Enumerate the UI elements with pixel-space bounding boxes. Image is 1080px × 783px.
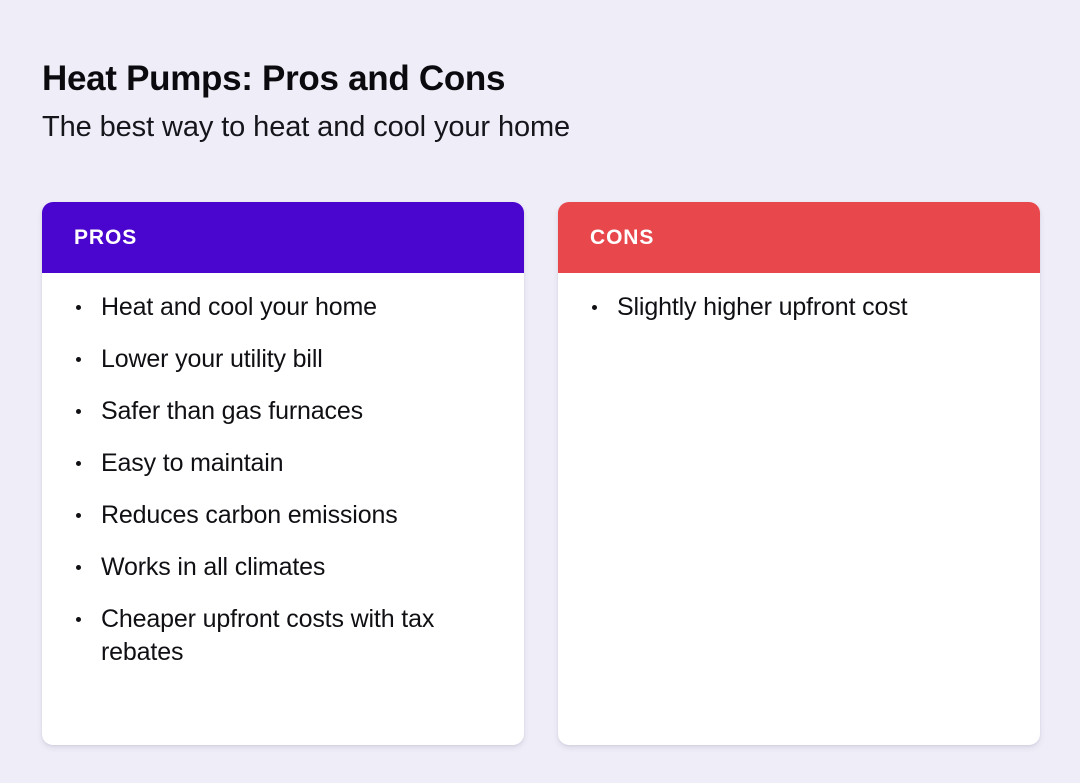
cons-list: Slightly higher upfront cost [584,291,1014,324]
page-subtitle: The best way to heat and cool your home [42,109,1042,145]
list-item: Reduces carbon emissions [68,499,498,532]
bullet-dot-icon [76,461,81,466]
cons-card-body: Slightly higher upfront cost [558,273,1040,745]
bullet-dot-icon [76,565,81,570]
list-item: Safer than gas furnaces [68,395,498,428]
page-title: Heat Pumps: Pros and Cons [42,58,1042,100]
cons-card-header-label: CONS [590,227,654,248]
bullet-dot-icon [76,305,81,310]
list-item-label: Heat and cool your home [101,291,498,324]
cons-card: CONS Slightly higher upfront cost [558,202,1040,745]
pros-list: Heat and cool your homeLower your utilit… [68,291,498,669]
pros-card: PROS Heat and cool your homeLower your u… [42,202,524,745]
bullet-dot-icon [592,305,597,310]
list-item-label: Easy to maintain [101,447,498,480]
bullet-dot-icon [76,513,81,518]
list-item-label: Slightly higher upfront cost [617,291,1014,324]
list-item: Slightly higher upfront cost [584,291,1014,324]
list-item-label: Lower your utility bill [101,343,498,376]
list-item-label: Reduces carbon emissions [101,499,498,532]
list-item: Works in all climates [68,551,498,584]
infographic-page: Heat Pumps: Pros and Cons The best way t… [0,0,1080,783]
bullet-dot-icon [76,409,81,414]
bullet-dot-icon [76,357,81,362]
cons-card-header: CONS [558,202,1040,273]
list-item-label: Works in all climates [101,551,498,584]
list-item: Cheaper upfront costs with tax rebates [68,603,498,669]
list-item: Lower your utility bill [68,343,498,376]
pros-card-body: Heat and cool your homeLower your utilit… [42,273,524,745]
header-block: Heat Pumps: Pros and Cons The best way t… [42,58,1042,145]
list-item: Easy to maintain [68,447,498,480]
cards-container: PROS Heat and cool your homeLower your u… [42,202,1040,745]
list-item-label: Cheaper upfront costs with tax rebates [101,603,498,669]
bullet-dot-icon [76,617,81,622]
pros-card-header-label: PROS [74,227,137,248]
pros-card-header: PROS [42,202,524,273]
list-item: Heat and cool your home [68,291,498,324]
list-item-label: Safer than gas furnaces [101,395,498,428]
